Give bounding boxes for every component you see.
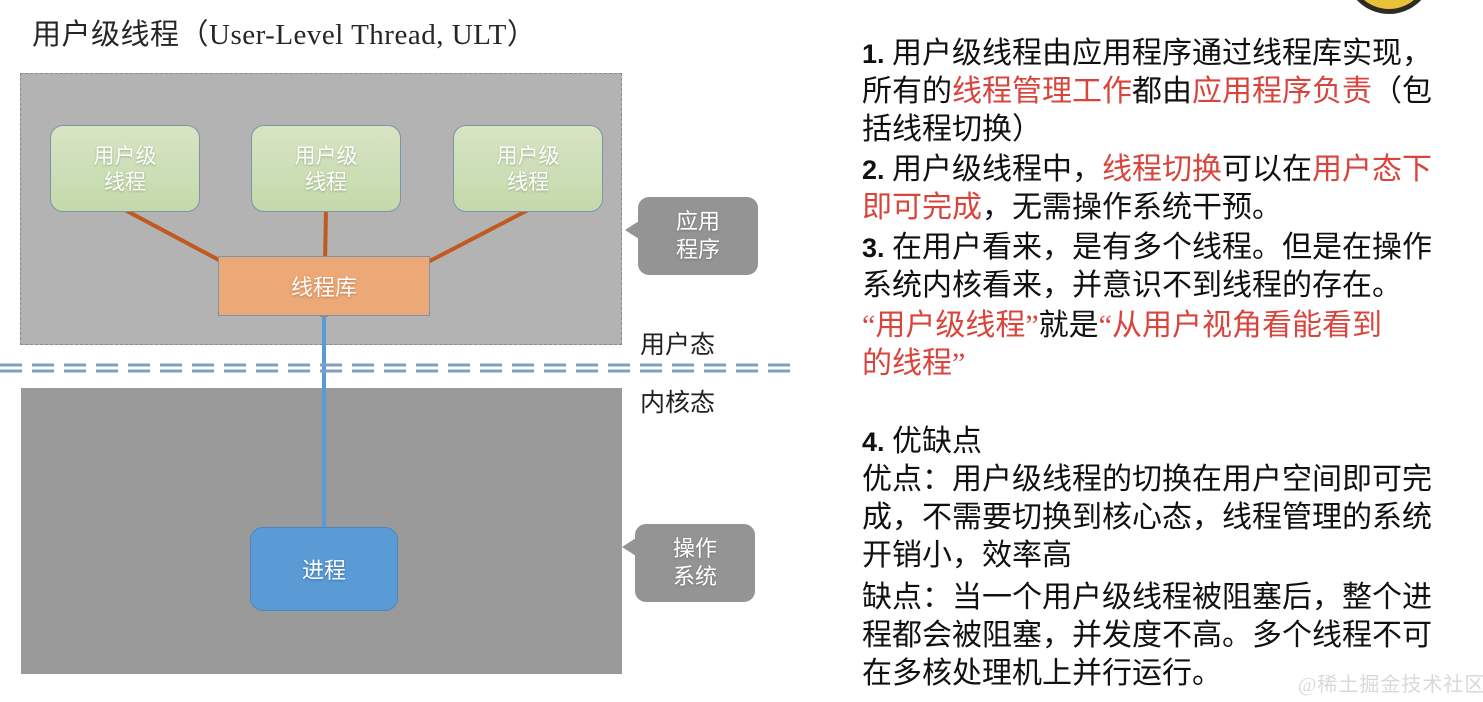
note-text: 在用户看来，是有多个线程。但是在操作 xyxy=(892,231,1432,264)
operating-system-callout: 操作 系统 xyxy=(635,524,755,602)
note-item3-number: 3. xyxy=(862,233,885,263)
application-callout: 应用 程序 xyxy=(638,197,758,275)
callout-tail-icon xyxy=(622,538,636,556)
note-item2-line2: 即可完成，无需操作系统干预。 xyxy=(862,190,1282,226)
thread-label-line1: 用户级 xyxy=(295,144,358,168)
thread-label-line2: 线程 xyxy=(104,170,146,194)
kernel-mode-label: 内核态 xyxy=(640,383,715,419)
user-level-thread-box-1: 用户级 线程 xyxy=(50,125,200,212)
callout-tail-icon xyxy=(625,221,639,239)
note-item3-line4: 的线程” xyxy=(862,346,965,382)
user-level-thread-label-2: 用户级 线程 xyxy=(295,143,358,195)
note-highlight: 应用程序负责 xyxy=(1192,75,1372,108)
note-text: 都由 xyxy=(1132,75,1192,108)
note-highlight: 线程管理工作 xyxy=(952,75,1132,108)
thread-library-box: 线程库 xyxy=(218,256,430,316)
note-text: 优缺点 xyxy=(892,425,982,458)
note-item1-number: 1. xyxy=(862,39,885,69)
note-text: 就是 xyxy=(1039,309,1099,342)
note-item4-pros-line2: 成，不需要切换到核心态，线程管理的系统 xyxy=(862,500,1432,536)
slide-canvas: 用户级线程（User-Level Thread, ULT） 用户级 线程 用户级… xyxy=(0,0,1483,702)
watermark: @稀土掘金技术社区 xyxy=(1298,668,1483,697)
thread-label-line2: 线程 xyxy=(305,170,347,194)
note-highlight: “从用户视角看能看到 xyxy=(1099,309,1382,342)
note-item2-number: 2. xyxy=(862,155,885,185)
note-text: ，无需操作系统干预。 xyxy=(982,191,1282,224)
user-level-thread-label-3: 用户级 线程 xyxy=(497,143,560,195)
callout-line2: 程序 xyxy=(676,237,720,262)
note-item4-pros-line1: 优点：用户级线程的切换在用户空间即可完 xyxy=(862,462,1432,498)
note-text: 可以在 xyxy=(1222,153,1312,186)
note-highlight: 即可完成 xyxy=(862,191,982,224)
note-text: 所有的 xyxy=(862,75,952,108)
note-highlight: 线程切换 xyxy=(1102,153,1222,186)
note-text: 用户级线程中， xyxy=(892,153,1102,186)
thread-label-line1: 用户级 xyxy=(497,144,560,168)
application-callout-label: 应用 程序 xyxy=(676,208,720,264)
note-item3-line2: 系统内核看来，并意识不到线程的存在。 xyxy=(862,268,1402,304)
note-highlight: “用户级线程” xyxy=(862,309,1039,342)
note-item3-line1: 3. 在用户看来，是有多个线程。但是在操作 xyxy=(862,230,1432,266)
note-item4-heading: 4. 优缺点 xyxy=(862,424,982,460)
note-text: （包 xyxy=(1372,75,1432,108)
process-box: 进程 xyxy=(250,527,398,611)
thread-library-label: 线程库 xyxy=(291,270,357,302)
user-kernel-boundary-line xyxy=(0,360,792,376)
callout-line1: 操作 xyxy=(673,536,717,561)
thread-label-line2: 线程 xyxy=(507,170,549,194)
ult-diagram: 用户级线程（User-Level Thread, ULT） 用户级 线程 用户级… xyxy=(0,0,845,702)
note-item1-line2: 所有的线程管理工作都由应用程序负责（包 xyxy=(862,74,1432,110)
note-item4-cons-line3: 在多核处理机上并行运行。 xyxy=(862,656,1222,692)
note-highlight: 用户态下 xyxy=(1312,153,1432,186)
operating-system-callout-label: 操作 系统 xyxy=(673,535,717,591)
user-level-thread-label-1: 用户级 线程 xyxy=(94,143,157,195)
note-item4-cons-line2: 程都会被阻塞，并发度不高。多个线程不可 xyxy=(862,618,1432,654)
note-item4-number: 4. xyxy=(862,427,885,457)
thread-label-line1: 用户级 xyxy=(94,144,157,168)
notes-panel: 1. 用户级线程由应用程序通过线程库实现， 所有的线程管理工作都由应用程序负责（… xyxy=(855,0,1483,702)
note-item4-cons-line1: 缺点：当一个用户级线程被阻塞后，整个进 xyxy=(862,580,1432,616)
note-item3-line3: “用户级线程”就是“从用户视角看能看到 xyxy=(862,308,1382,344)
user-level-thread-box-3: 用户级 线程 xyxy=(453,125,603,212)
note-item1-line1: 1. 用户级线程由应用程序通过线程库实现， xyxy=(862,36,1432,72)
user-mode-label: 用户态 xyxy=(640,325,715,361)
note-item4-pros-line3: 开销小，效率高 xyxy=(862,538,1072,574)
callout-line1: 应用 xyxy=(676,209,720,234)
note-item2-line1: 2. 用户级线程中，线程切换可以在用户态下 xyxy=(862,152,1432,188)
note-item1-line3: 括线程切换） xyxy=(862,112,1042,148)
user-level-thread-box-2: 用户级 线程 xyxy=(251,125,401,212)
callout-line2: 系统 xyxy=(673,564,717,589)
note-item1-text: 用户级线程由应用程序通过线程库实现， xyxy=(892,37,1432,70)
process-label: 进程 xyxy=(302,553,346,585)
